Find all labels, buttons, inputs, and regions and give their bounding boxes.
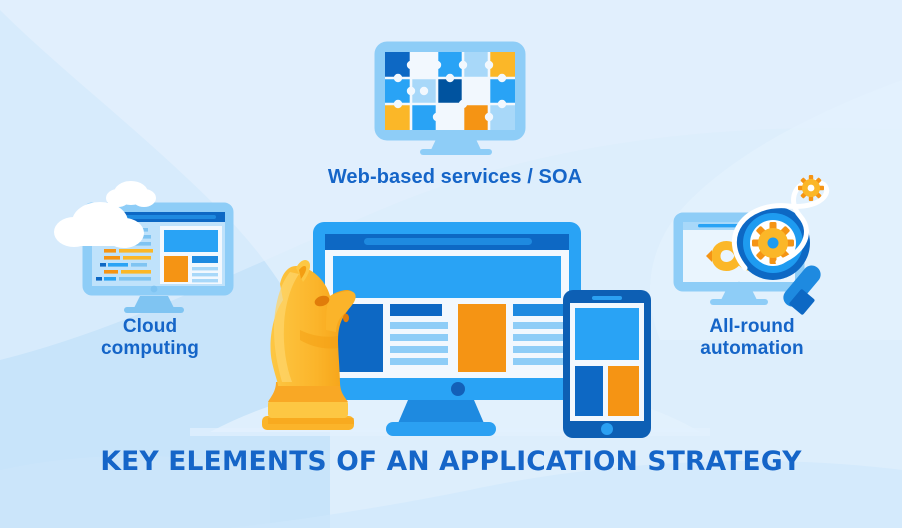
page-title: KEY ELEMENTS OF AN APPLICATION STRATEGY [0,446,902,477]
label-cloud-computing: Cloud computing [72,316,228,361]
infographic-canvas: Web-based services / SOA Cloud computing… [0,0,902,528]
tablet [563,290,651,438]
puzzle-grid-icon [385,52,515,130]
soa-puzzle-monitor [378,45,522,155]
cloud-computing-monitor [54,181,230,313]
label-all-round-automation: All-round automation [666,316,838,361]
automation-monitor [677,175,827,315]
label-web-based-services: Web-based services / SOA [270,166,640,190]
small-gear-icon [798,175,824,201]
